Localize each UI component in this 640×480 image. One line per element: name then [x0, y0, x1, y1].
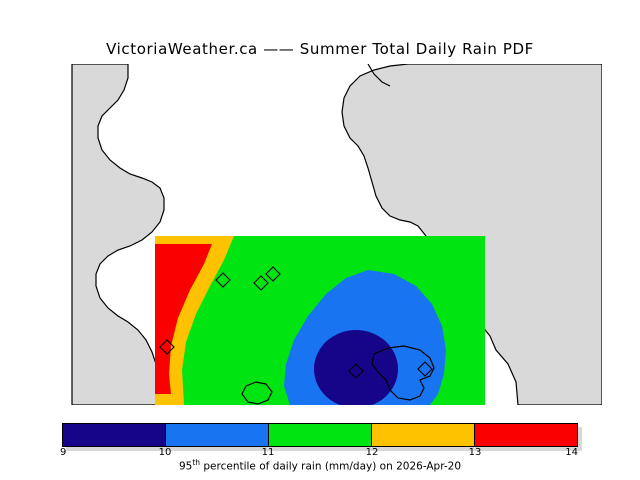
- colorbar-band-13-14[interactable]: [474, 424, 577, 446]
- map-layers: [38, 64, 602, 405]
- page-title: VictoriaWeather.ca —— Summer Total Daily…: [0, 40, 640, 58]
- colorbar[interactable]: [62, 423, 578, 447]
- caption-rest: percentile of daily rain (mm/day) on 202…: [200, 461, 461, 473]
- colorbar-tick-12: 12: [366, 447, 379, 458]
- colorbar-band-10-11[interactable]: [165, 424, 268, 446]
- colorbar-band-9-10[interactable]: [63, 424, 165, 446]
- colorbar-tick-13: 13: [469, 447, 482, 458]
- colorbar-tick-11: 11: [262, 447, 275, 458]
- colorbar-caption: 95th percentile of daily rain (mm/day) o…: [0, 458, 640, 473]
- figure-canvas: VictoriaWeather.ca —— Summer Total Daily…: [0, 0, 640, 480]
- contour-band-9-10: [314, 330, 398, 405]
- colorbar-tick-10: 10: [159, 447, 172, 458]
- colorbar-tick-9: 9: [60, 447, 66, 458]
- colorbar-band-12-13[interactable]: [371, 424, 474, 446]
- caption-prefix: 95: [179, 461, 192, 473]
- weather-map[interactable]: [38, 64, 602, 405]
- colorbar-bands[interactable]: [62, 423, 578, 447]
- caption-superscript: th: [192, 458, 200, 467]
- colorbar-band-11-12[interactable]: [268, 424, 371, 446]
- contour-fill-layer: [155, 236, 485, 405]
- colorbar-tick-14: 14: [565, 447, 578, 458]
